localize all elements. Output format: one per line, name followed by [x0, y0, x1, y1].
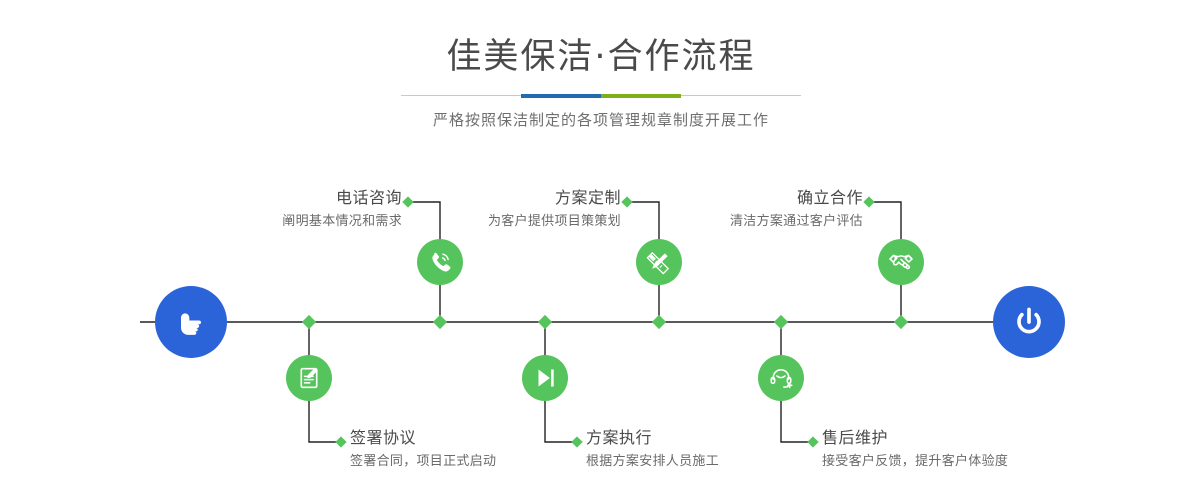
- phone-call-icon: [427, 249, 453, 275]
- power-icon: [1009, 302, 1049, 342]
- flow-connectors: [0, 0, 1202, 502]
- label-step-2-desc: 签署合同，项目正式启动: [350, 452, 496, 472]
- label-step-6: 售后维护 接受客户反馈，提升客户体验度: [822, 428, 1008, 472]
- node-step-1[interactable]: [417, 239, 463, 285]
- label-step-2-title: 签署协议: [350, 428, 496, 448]
- label-step-4-title: 方案执行: [586, 428, 719, 448]
- label-step-4-desc: 根据方案安排人员施工: [586, 452, 719, 472]
- label-step-6-title: 售后维护: [822, 428, 1008, 448]
- node-step-6[interactable]: [758, 355, 804, 401]
- flow-end-badge[interactable]: [993, 286, 1065, 358]
- label-step-3: 方案定制 为客户提供项目策策划: [488, 188, 621, 232]
- play-execute-icon: [532, 365, 558, 391]
- handshake-icon: [887, 248, 915, 276]
- pencil-ruler-icon: [646, 249, 672, 275]
- node-step-5[interactable]: [878, 239, 924, 285]
- label-step-5: 确立合作 清洁方案通过客户评估: [730, 188, 863, 232]
- node-step-2[interactable]: [286, 355, 332, 401]
- node-step-4[interactable]: [522, 355, 568, 401]
- label-step-6-desc: 接受客户反馈，提升客户体验度: [822, 452, 1008, 472]
- label-step-2: 签署协议 签署合同，项目正式启动: [350, 428, 496, 472]
- label-step-5-desc: 清洁方案通过客户评估: [730, 212, 863, 232]
- label-step-1-desc: 阐明基本情况和需求: [282, 212, 402, 232]
- label-step-3-desc: 为客户提供项目策策划: [488, 212, 621, 232]
- sign-document-icon: [296, 365, 322, 391]
- label-step-1-title: 电话咨询: [282, 188, 402, 208]
- process-flow: 电话咨询 阐明基本情况和需求 方案定制 为客户提供项目策策划 确立合作 清洁方案…: [0, 0, 1202, 502]
- node-step-3[interactable]: [636, 239, 682, 285]
- label-step-3-title: 方案定制: [488, 188, 621, 208]
- cooperation-process-infographic: 佳美保洁·合作流程 严格按照保洁制定的各项管理规章制度开展工作: [0, 0, 1202, 502]
- flow-start-badge[interactable]: [155, 286, 227, 358]
- label-step-1: 电话咨询 阐明基本情况和需求: [282, 188, 402, 232]
- pointing-hand-icon: [171, 302, 211, 342]
- label-step-5-title: 确立合作: [730, 188, 863, 208]
- label-step-4: 方案执行 根据方案安排人员施工: [586, 428, 719, 472]
- customer-service-add-icon: [768, 365, 794, 391]
